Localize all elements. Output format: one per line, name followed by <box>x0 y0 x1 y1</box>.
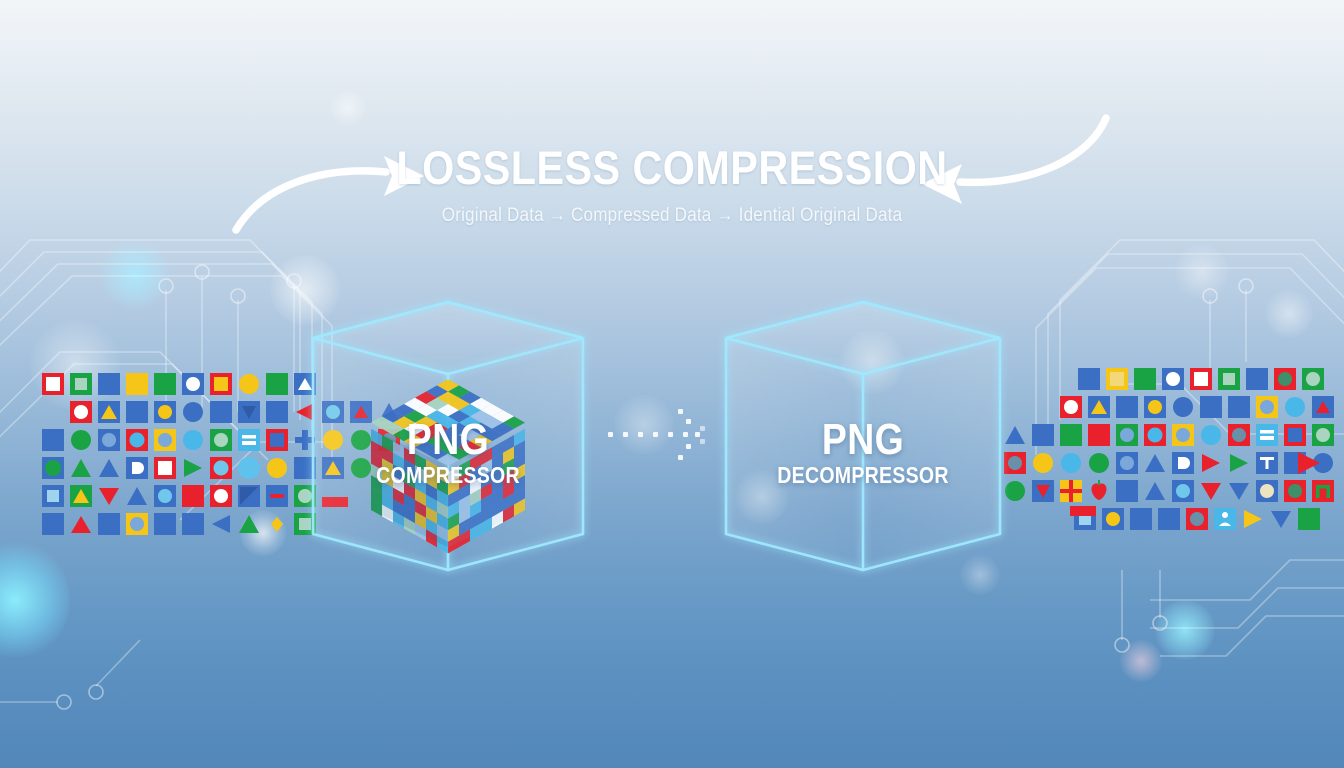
flow-dotted-arrow <box>608 409 705 460</box>
cubes-layer <box>0 0 1344 768</box>
decompressor-wireframe-cube[interactable] <box>726 302 1000 570</box>
infographic-canvas: LOSSLESS COMPRESSION Original Data → Com… <box>0 0 1344 768</box>
